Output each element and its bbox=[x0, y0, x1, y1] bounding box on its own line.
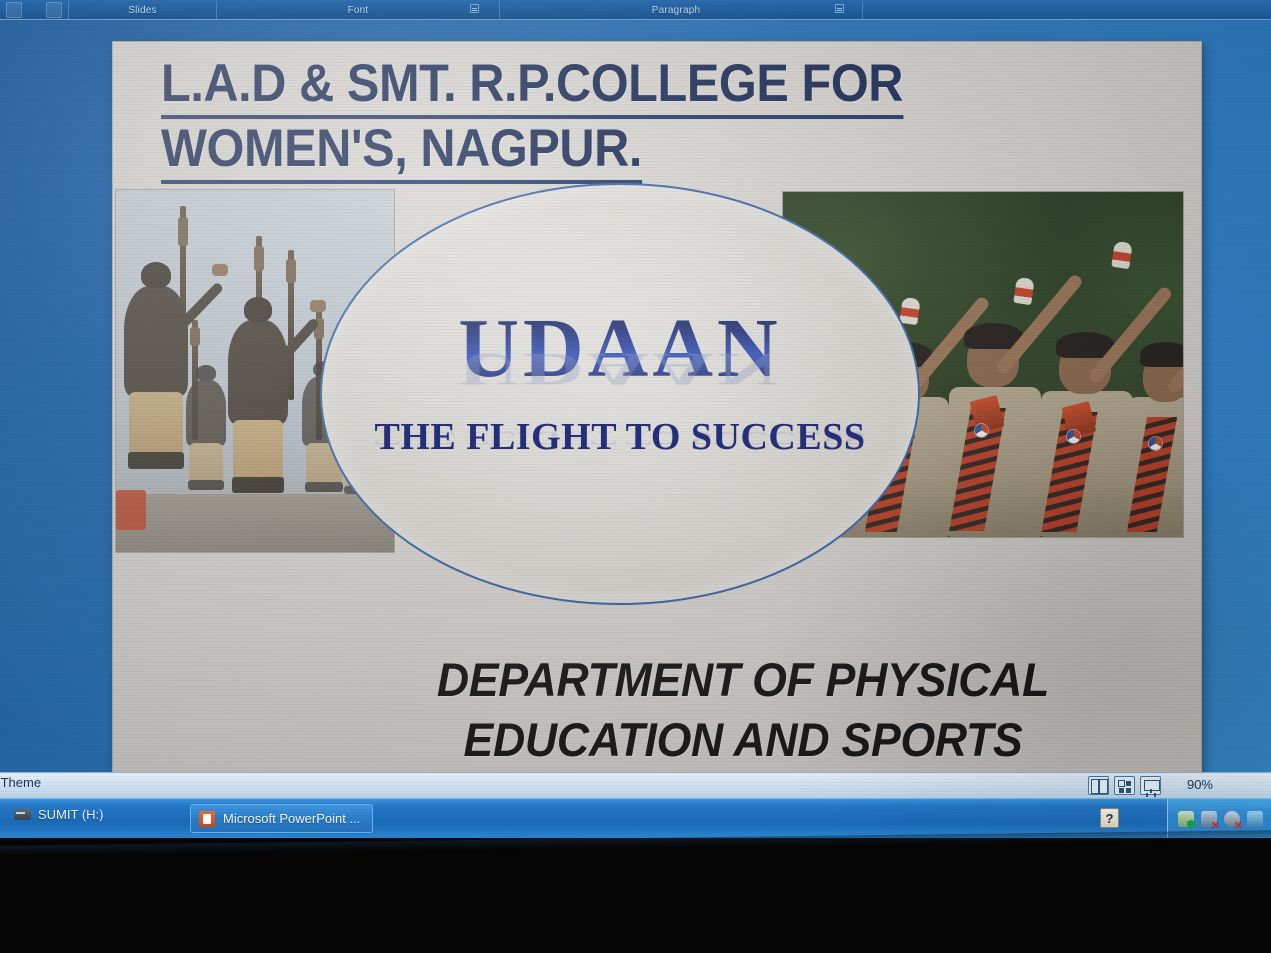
slide-canvas[interactable]: L.A.D & SMT. R.P.COLLEGE FOR WOMEN'S, NA… bbox=[113, 42, 1201, 794]
photo-red-object bbox=[116, 490, 146, 530]
powerpoint-window: Slides Font Paragraph L.A.D & SMT. R.P.C… bbox=[0, 0, 1271, 840]
woman-cadet-figure bbox=[1127, 287, 1183, 537]
paragraph-dialog-launcher-icon[interactable] bbox=[835, 4, 844, 13]
taskbar-window-label: Microsoft PowerPoint ... bbox=[223, 811, 360, 826]
department-heading[interactable]: DEPARTMENT OF PHYSICAL EDUCATION AND SPO… bbox=[316, 650, 1171, 770]
safely-remove-hardware-icon[interactable] bbox=[1178, 811, 1194, 827]
cadet-hand bbox=[212, 264, 228, 276]
removable-drive-icon bbox=[14, 809, 31, 820]
ribbon-group-separator bbox=[68, 1, 69, 19]
cadet-head bbox=[196, 365, 215, 381]
quick-launch-drive-item[interactable]: SUMIT (H:) bbox=[14, 807, 103, 822]
udaan-wordmark: UDAAN bbox=[458, 309, 781, 389]
rifle-icon bbox=[288, 250, 294, 400]
slide-title[interactable]: L.A.D & SMT. R.P.COLLEGE FOR WOMEN'S, NA… bbox=[161, 54, 1081, 184]
department-line-1: DEPARTMENT OF PHYSICAL bbox=[316, 650, 1171, 710]
view-slide-sorter-button[interactable] bbox=[1114, 776, 1135, 795]
ribbon-group-separator bbox=[862, 1, 863, 19]
udaan-tagline: THE FLIGHT TO SUCCESS bbox=[375, 415, 866, 459]
monitor-bezel-dark-area bbox=[0, 838, 1271, 953]
udaan-tagline-wrap: THE FLIGHT TO SUCCESS THE FLIGHT TO SUCC… bbox=[375, 415, 866, 459]
cadet-hair bbox=[1140, 342, 1183, 367]
cadet-legs bbox=[189, 443, 223, 480]
ribbon-group-slides-label: Slides bbox=[128, 5, 156, 16]
ribbon-bar: Slides Font Paragraph bbox=[0, 0, 1271, 20]
slide-workspace[interactable]: L.A.D & SMT. R.P.COLLEGE FOR WOMEN'S, NA… bbox=[0, 20, 1271, 772]
udaan-wordmark-wrap: UDAAN UDAAN bbox=[458, 329, 781, 409]
theme-label: e Theme bbox=[0, 775, 41, 790]
cadet-head bbox=[244, 297, 273, 322]
status-bar: e Theme 90% bbox=[0, 772, 1271, 798]
ribbon-group-paragraph-label: Paragraph bbox=[652, 5, 701, 16]
taskbar-window-powerpoint[interactable]: Microsoft PowerPoint ... bbox=[190, 804, 373, 833]
woman-cadet-figure bbox=[949, 269, 1041, 537]
ribbon-group-font-label: Font bbox=[348, 5, 369, 16]
ribbon-group-separator bbox=[216, 1, 217, 19]
ribbon-group-font[interactable]: Font bbox=[218, 0, 498, 20]
cadet-legs bbox=[129, 392, 183, 454]
udaan-logo-ellipse[interactable]: UDAAN UDAAN THE FLIGHT TO SUCCESS THE FL… bbox=[320, 183, 920, 605]
ribbon-button-a[interactable] bbox=[6, 2, 22, 18]
ribbon-button-b[interactable] bbox=[46, 2, 62, 18]
cadet-figure bbox=[186, 380, 226, 446]
zoom-level[interactable]: 90% bbox=[1187, 777, 1213, 792]
ribbon-group-separator bbox=[499, 1, 500, 19]
help-icon[interactable]: ? bbox=[1100, 808, 1119, 828]
view-slide-show-button[interactable] bbox=[1140, 776, 1161, 795]
cadet-head bbox=[141, 262, 172, 288]
ribbon-group-slides[interactable]: Slides bbox=[70, 0, 215, 20]
volume-icon[interactable] bbox=[1224, 811, 1240, 827]
view-buttons-group bbox=[1088, 776, 1161, 795]
plume-icon bbox=[1111, 241, 1132, 269]
slide-title-line-2: WOMEN'S, NAGPUR. bbox=[161, 119, 1081, 184]
cadet-boots bbox=[232, 477, 285, 493]
monitor-photo: Slides Font Paragraph L.A.D & SMT. R.P.C… bbox=[0, 0, 1271, 953]
powerpoint-icon bbox=[199, 811, 215, 827]
department-line-2: EDUCATION AND SPORTS bbox=[316, 710, 1171, 770]
cadet-figure bbox=[228, 320, 288, 424]
cadet-boots bbox=[128, 452, 184, 469]
cadet-boots bbox=[188, 480, 223, 490]
font-dialog-launcher-icon[interactable] bbox=[470, 4, 479, 13]
network-icon[interactable] bbox=[1201, 811, 1217, 827]
misc-icon[interactable] bbox=[1247, 811, 1263, 827]
view-normal-button[interactable] bbox=[1088, 776, 1109, 795]
cadet-legs bbox=[233, 420, 283, 478]
slide-title-line-1: L.A.D & SMT. R.P.COLLEGE FOR bbox=[161, 54, 1081, 119]
cadet-figure bbox=[124, 286, 188, 396]
ribbon-group-paragraph[interactable]: Paragraph bbox=[501, 0, 851, 20]
help-glyph: ? bbox=[1106, 811, 1114, 826]
woman-cadet-figure bbox=[1041, 277, 1133, 537]
udaan-logo-content: UDAAN UDAAN THE FLIGHT TO SUCCESS THE FL… bbox=[322, 185, 918, 603]
quick-launch-label: SUMIT (H:) bbox=[38, 807, 103, 822]
